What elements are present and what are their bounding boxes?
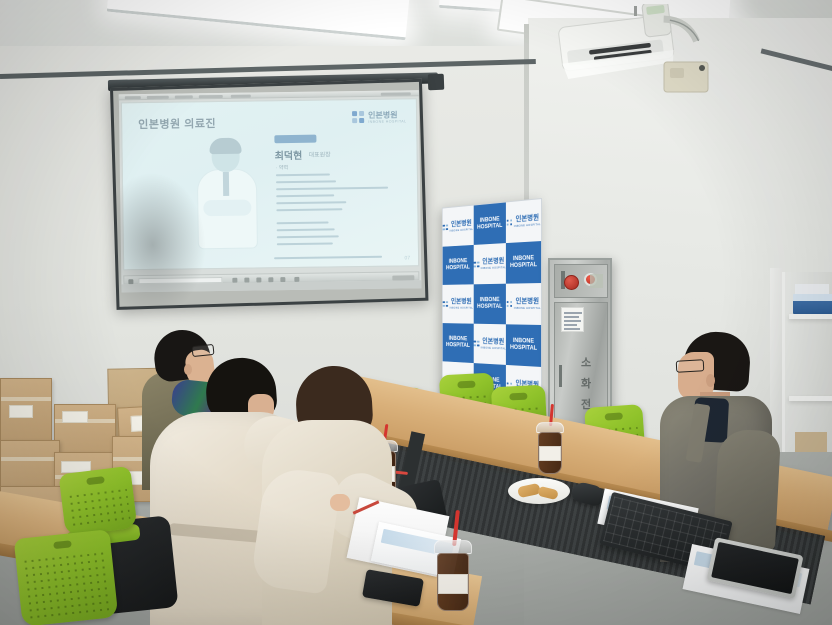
inspection-notice [561,307,584,332]
banner-tile: 인본병원INBONE HOSPITAL [443,206,474,247]
cardboard-box [0,440,60,488]
ear [706,374,715,387]
cup-sleeve [438,574,468,594]
cup-lid [434,540,472,554]
logo-mark-icon [443,224,448,231]
pastry-plate [508,478,570,504]
logo-mark-icon [474,261,480,268]
doctor-name: 최덕현 [275,147,303,162]
screen-glare [110,168,210,310]
air-conditioner-icon [556,4,726,108]
banner-tile: INBONE HOSPITAL [473,202,506,245]
projection-screen: 인본병원 의료진 최덕현 대표원장 · 약력 [110,79,428,310]
screen-roller-end [428,74,445,91]
cabinet-alarm-panel [554,264,608,298]
alarm-bell-icon [564,275,579,290]
logo-mark-icon [443,301,448,307]
banner-tile: INBONE HOSPITAL [506,241,541,284]
banner-tile: INBONE HOSPITAL [443,323,474,363]
conference-room-photo: 인본병원 의료진 최덕현 대표원장 · 약력 [0,0,832,625]
banner-tile: INBONE HOSPITAL [473,284,506,325]
cardboard-box [54,404,116,456]
banner-tile: 인본병원INBONE HOSPITAL [443,284,474,323]
banner-tile: INBONE HOSPITAL [506,324,541,367]
cabinet-handle[interactable] [559,365,562,387]
banner-tile: 인본병원INBONE HOSPITAL [506,199,541,243]
logo-mark-icon [506,301,512,308]
cup-sleeve [539,446,561,461]
slide-page-number: 07 [404,255,410,261]
blue-folders [793,294,832,314]
hand [330,494,350,511]
doctor-role: 대표원장 [309,149,331,158]
shelf-papers [795,284,829,294]
eyeglasses-icon [191,344,214,357]
cardboard-box [0,378,52,442]
led-panel-left-icon [107,0,410,40]
specialty-badge [274,135,316,144]
banner-tile: 인본병원INBONE HOSPITAL [506,283,541,325]
banner-tile: 인본병원INBONE HOSPITAL [473,243,506,284]
logo-mark-icon [506,219,512,226]
cabinet-green-label [590,274,603,288]
logo-mark-icon [474,340,480,347]
ear [184,364,192,375]
hospital-logo: 인본병원 INBONE HOSPITAL [352,109,408,126]
logo-subtext: INBONE HOSPITAL [368,119,406,124]
banner-tile: 인본병원INBONE HOSPITAL [473,324,506,365]
credentials-header: · 약력 [276,164,288,171]
slide-title: 인본병원 의료진 [138,115,216,132]
banner-tile: INBONE HOSPITAL [443,245,474,285]
logo-mark-icon [352,111,365,124]
eyeglasses-icon [676,359,705,372]
